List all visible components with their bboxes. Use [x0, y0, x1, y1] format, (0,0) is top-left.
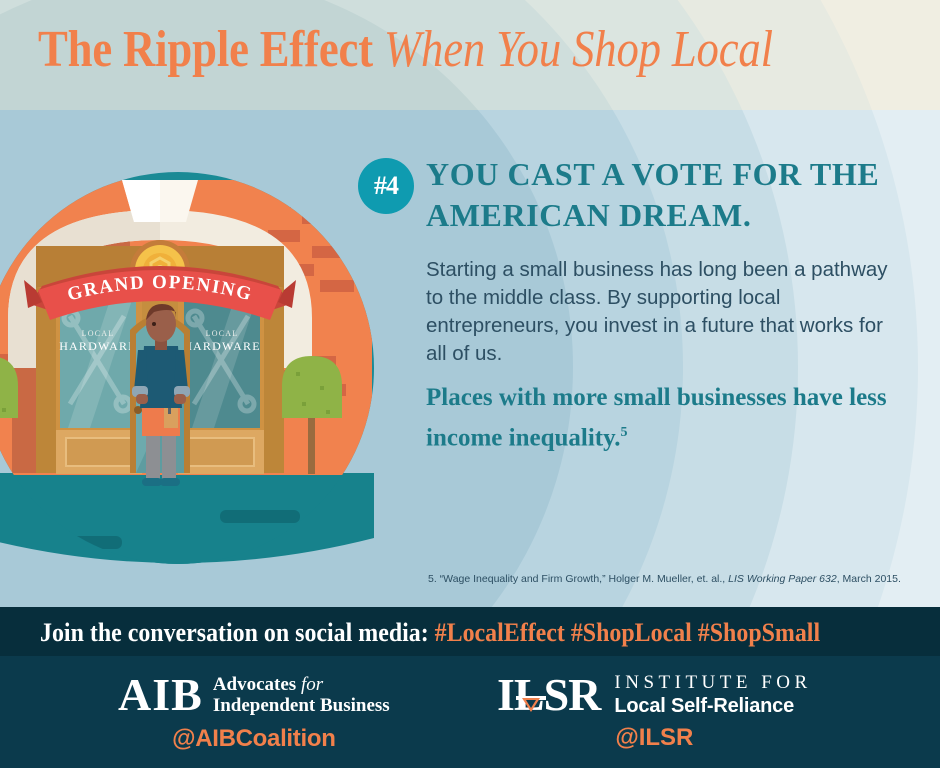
- ilsr-tagline-line2: Local Self-Reliance: [614, 694, 811, 718]
- window-sign-large-right: HARDWARE: [183, 339, 261, 353]
- page-title-bold: The Ripple Effect: [38, 21, 373, 78]
- aib-tagline-line1: Advocates for: [213, 674, 390, 695]
- aib-tagline-line2: Independent Business: [213, 695, 390, 716]
- key-statistic: Places with more small businesses have l…: [426, 380, 896, 455]
- aib-wordmark: AIB: [118, 672, 203, 718]
- social-prompt: Join the conversation on social media:: [40, 618, 429, 647]
- page-title-italic: When You Shop Local: [384, 21, 773, 78]
- aib-handle[interactable]: @AIBCoalition: [118, 725, 390, 753]
- logo-bar: AIB Advocates for Independent Business @…: [0, 656, 940, 768]
- social-hashtags[interactable]: #LocalEffect #ShopLocal #ShopSmall: [435, 618, 820, 647]
- ilsr-logo-row: ILSR INSTITUTE FOR Local Self-Reliance: [497, 672, 812, 718]
- ilsr-tagline: INSTITUTE FOR Local Self-Reliance: [614, 672, 811, 718]
- window-sign-small-left: LOCAL: [82, 329, 115, 338]
- social-media-line: Join the conversation on social media: #…: [40, 618, 820, 648]
- ilsr-tagline-line1: INSTITUTE FOR: [614, 672, 811, 694]
- section-body-text: Starting a small business has long been …: [426, 256, 891, 368]
- step-number-badge: #4: [358, 158, 414, 214]
- aib-logo[interactable]: AIB Advocates for Independent Business @…: [118, 672, 390, 753]
- page-title: The Ripple Effect When You Shop Local: [38, 20, 773, 79]
- ilsr-wordmark: ILSR: [497, 672, 600, 718]
- aib-tagline: Advocates for Independent Business: [213, 674, 390, 716]
- social-media-bar: Join the conversation on social media: #…: [0, 607, 940, 656]
- section-headline: YOU CAST A VOTE FOR THE AMERICAN DREAM.: [426, 154, 896, 236]
- citation-prefix: 5. “Wage Inequality and Firm Growth,” Ho…: [428, 573, 728, 585]
- ilsr-wordmark-text: ILSR: [497, 669, 600, 720]
- aib-tagline-advocates: Advocates: [213, 674, 301, 695]
- citation: 5. “Wage Inequality and Firm Growth,” Ho…: [428, 572, 908, 586]
- window-sign-small-right: LOCAL: [206, 329, 239, 338]
- key-statistic-text: Places with more small businesses have l…: [426, 384, 887, 451]
- ilsr-triangle-inner-icon: [526, 700, 536, 708]
- footnote-marker: 5: [620, 425, 627, 440]
- aib-tagline-for: for: [301, 674, 323, 695]
- ilsr-logo[interactable]: ILSR INSTITUTE FOR Local Self-Reliance @…: [497, 672, 812, 752]
- window-sign-large-left: HARDWARE: [59, 339, 137, 353]
- infographic-page: The Ripple Effect When You Shop Local: [0, 0, 940, 768]
- ilsr-handle[interactable]: @ILSR: [497, 724, 812, 752]
- storefront-illustration: LOCAL HARDWARE LOCAL HARDWARE: [0, 118, 402, 578]
- citation-suffix: , March 2015.: [837, 573, 901, 585]
- aib-logo-row: AIB Advocates for Independent Business: [118, 672, 390, 718]
- citation-source: LIS Working Paper 632: [728, 573, 837, 585]
